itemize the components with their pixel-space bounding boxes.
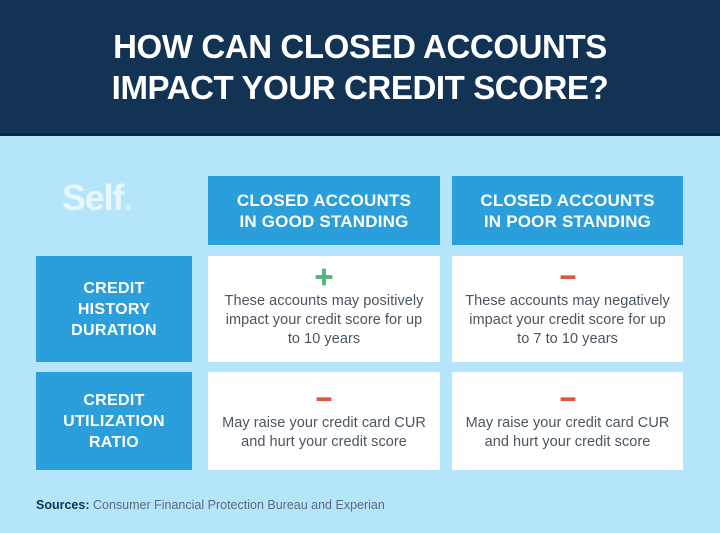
column-header-good-standing: CLOSED ACCOUNTS IN GOOD STANDING xyxy=(208,176,440,245)
row-label-credit-history-duration-line-2: HISTORY xyxy=(78,299,150,320)
header-banner: HOW CAN CLOSED ACCOUNTS IMPACT YOUR CRED… xyxy=(0,0,720,136)
column-header-good-standing-line-1: CLOSED ACCOUNTS xyxy=(237,190,411,211)
minus-icon xyxy=(558,389,578,409)
cell-history-poor: These accounts may negatively impact you… xyxy=(452,256,683,362)
column-header-poor-standing-line-1: CLOSED ACCOUNTS xyxy=(480,190,654,211)
sources-label: Sources: xyxy=(36,498,90,512)
self-logo-dot: . xyxy=(123,177,132,218)
cell-utilization-good-text: May raise your credit card CUR and hurt … xyxy=(220,414,428,452)
cell-utilization-poor-text: May raise your credit card CUR and hurt … xyxy=(464,414,671,452)
minus-icon xyxy=(558,267,578,287)
column-header-poor-standing-line-2: IN POOR STANDING xyxy=(484,211,651,232)
cell-history-poor-text: These accounts may negatively impact you… xyxy=(464,292,671,349)
cell-history-good: These accounts may positively impact you… xyxy=(208,256,440,362)
comparison-table: Self. CLOSED ACCOUNTS IN GOOD STANDING C… xyxy=(0,139,720,533)
column-header-poor-standing: CLOSED ACCOUNTS IN POOR STANDING xyxy=(452,176,683,245)
row-label-credit-utilization-ratio-line-2: UTILIZATION xyxy=(63,411,165,432)
page-title-line-2: IMPACT YOUR CREDIT SCORE? xyxy=(112,67,609,108)
sources-value: Consumer Financial Protection Bureau and… xyxy=(93,498,385,512)
minus-icon xyxy=(314,389,334,409)
cell-utilization-poor: May raise your credit card CUR and hurt … xyxy=(452,372,683,470)
row-label-credit-utilization-ratio-line-1: CREDIT xyxy=(83,390,144,411)
row-label-credit-utilization-ratio: CREDIT UTILIZATION RATIO xyxy=(36,372,192,470)
page-title-line-1: HOW CAN CLOSED ACCOUNTS xyxy=(113,26,607,67)
cell-utilization-good: May raise your credit card CUR and hurt … xyxy=(208,372,440,470)
self-logo: Self. xyxy=(62,177,182,219)
sources-footer: Sources: Consumer Financial Protection B… xyxy=(36,497,385,513)
cell-history-good-text: These accounts may positively impact you… xyxy=(220,292,428,349)
row-label-credit-history-duration-line-1: CREDIT xyxy=(83,278,144,299)
column-header-good-standing-line-2: IN GOOD STANDING xyxy=(239,211,408,232)
row-label-credit-utilization-ratio-line-3: RATIO xyxy=(89,432,139,453)
row-label-credit-history-duration: CREDIT HISTORY DURATION xyxy=(36,256,192,362)
self-logo-wordmark: Self xyxy=(62,177,123,218)
infographic-root: HOW CAN CLOSED ACCOUNTS IMPACT YOUR CRED… xyxy=(0,0,720,533)
row-label-credit-history-duration-line-3: DURATION xyxy=(71,320,157,341)
plus-icon xyxy=(314,267,334,287)
